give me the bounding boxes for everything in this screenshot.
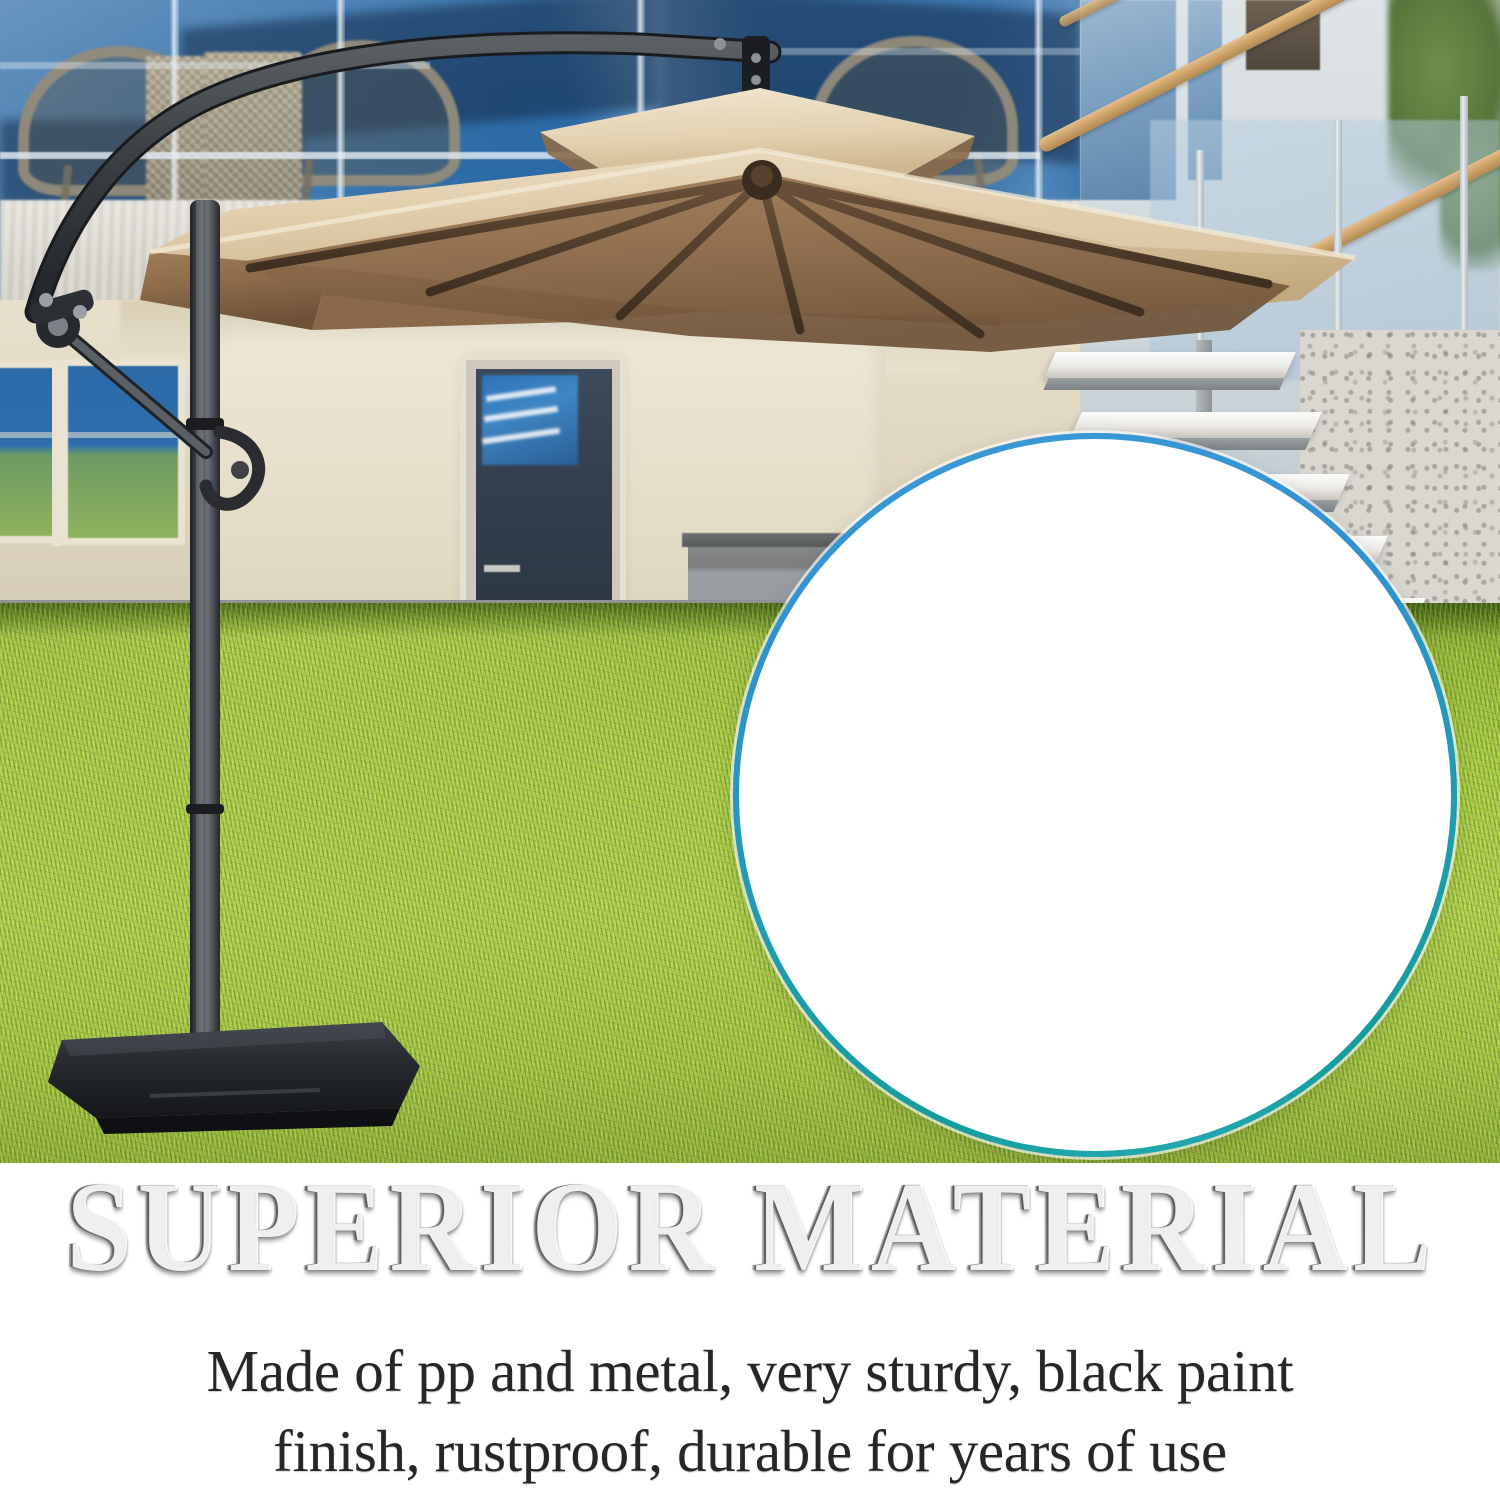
reflected-stair-line — [486, 386, 556, 402]
knob-highlight — [881, 789, 893, 949]
railing-bar — [700, 48, 1080, 55]
description-line-2: finish, rustproof, durable for years of … — [150, 1411, 1350, 1491]
door-glass-reflection — [482, 375, 578, 465]
crank-handle-illustration — [739, 439, 1457, 1157]
description-text: Made of pp and metal, very sturdy, black… — [150, 1331, 1350, 1491]
text-panel: SUPERIOR MATERIAL SUPERIOR MATERIAL Made… — [0, 1163, 1500, 1500]
window-transom — [0, 432, 180, 438]
door-handle — [484, 565, 520, 572]
reflected-stair-line — [482, 428, 560, 445]
railing-bar — [0, 62, 430, 69]
ground-floor-window — [0, 368, 56, 536]
rail-post — [1460, 96, 1468, 346]
stair-riser — [1043, 378, 1284, 390]
lifestyle-photo — [0, 0, 1500, 1163]
knob-groove — [865, 769, 997, 783]
handle-knob — [857, 697, 1001, 1027]
window-mullion — [52, 360, 61, 546]
metal-shaft-pin — [1305, 788, 1351, 874]
description-line-1: Made of pp and metal, very sturdy, black… — [150, 1331, 1350, 1411]
product-closeup-circle — [733, 433, 1457, 1157]
ground-floor-window — [68, 366, 178, 538]
page-title: SUPERIOR MATERIAL — [60, 1161, 1440, 1293]
planter — [204, 52, 302, 220]
railing-bar — [0, 152, 1040, 159]
stair-tread — [1044, 352, 1296, 378]
product-feature-poster: SUPERIOR MATERIAL SUPERIOR MATERIAL Made… — [0, 0, 1500, 1500]
planter-weave — [204, 52, 302, 220]
reflected-stair-line — [484, 406, 558, 422]
